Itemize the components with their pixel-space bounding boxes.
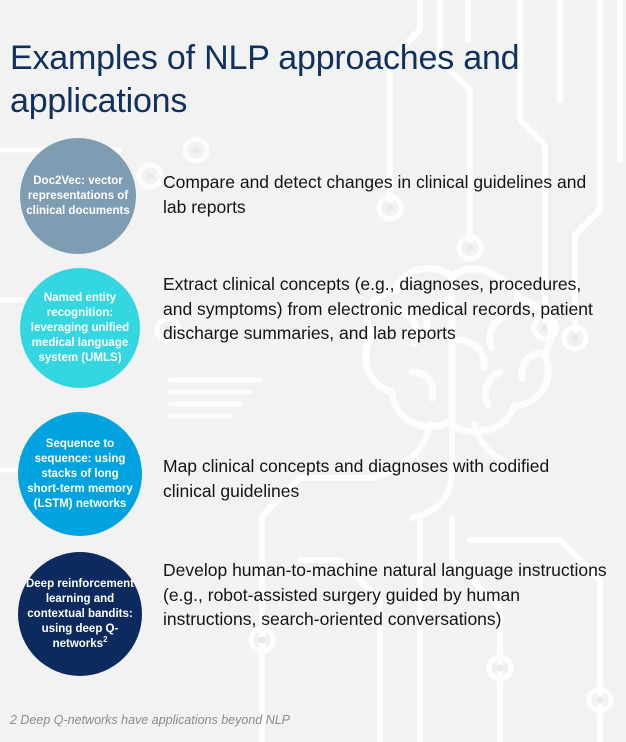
page-title: Examples of NLP approaches and applicati… [10,37,600,123]
bubble-label-text: Deep reinforcement learning and contextu… [26,578,134,650]
bubble-row: Named entity recognition: leveraging uni… [0,260,626,406]
footnote: 2 Deep Q-networks have applications beyo… [10,712,290,728]
bubble-sequence-to-sequence[interactable]: Sequence to sequence: using stacks of lo… [18,412,142,536]
bubble-label-superscript: 2 [103,635,107,644]
bubble-label: Named entity recognition: leveraging uni… [20,291,140,366]
bubble-row: Doc2Vec: vector representations of clini… [0,128,626,260]
row-description: Extract clinical concepts (e.g., diagnos… [163,272,608,346]
bubble-row-list: Doc2Vec: vector representations of clini… [0,128,626,698]
bubble-row: Deep reinforcement learning and contextu… [0,548,626,698]
slide: Examples of NLP approaches and applicati… [0,0,626,742]
bubble-label: Doc2Vec: vector representations of clini… [20,174,136,219]
bubble-deep-reinforcement-learning[interactable]: Deep reinforcement learning and contextu… [18,552,142,676]
row-description: Develop human-to-machine natural languag… [163,558,615,632]
bubble-named-entity-recognition[interactable]: Named entity recognition: leveraging uni… [20,268,140,388]
bubble-label: Sequence to sequence: using stacks of lo… [18,437,142,512]
row-description: Map clinical concepts and diagnoses with… [163,454,603,503]
row-description: Compare and detect changes in clinical g… [163,170,593,219]
bubble-label: Deep reinforcement learning and contextu… [18,577,142,652]
bubble-doc2vec[interactable]: Doc2Vec: vector representations of clini… [20,138,136,254]
bubble-row: Sequence to sequence: using stacks of lo… [0,406,626,548]
